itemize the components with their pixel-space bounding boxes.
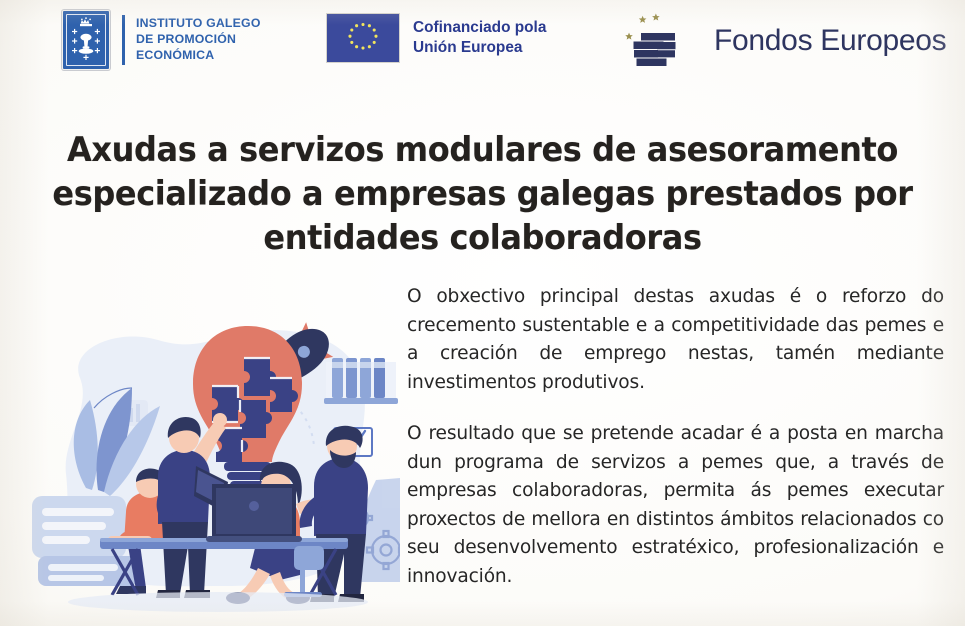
paragraph-objective: O obxectivo principal destas axudas é o … [407,283,944,397]
paragraph-result: O resultado que se pretende acadar é a p… [407,420,944,591]
shelf-with-binders [324,358,398,404]
eu-label: Cofinanciado pola Unión Europea [413,18,546,58]
xunta-de-galicia-emblem [62,10,110,70]
logo-european-union: Cofinanciado pola Unión Europea [327,14,546,62]
laptop-on-desk [206,484,302,542]
fondos-europeos-stairs-stars-mark [620,8,704,74]
fondos-europeos-label: Fondos Europeos [714,24,946,58]
eu-flag [327,14,399,62]
page-title: Axudas a servizos modulares de asesorame… [50,128,914,259]
team-brainstorming-illustration [8,300,400,622]
igape-label: INSTITUTO GALEGO DE PROMOCIÓN ECONÓMICA [136,16,261,64]
body-text-column: O obxectivo principal destas axudas é o … [407,283,944,591]
logo-igape: INSTITUTO GALEGO DE PROMOCIÓN ECONÓMICA [62,10,261,70]
logo-fondos-europeos: Fondos Europeos [620,8,946,74]
poster-page: INSTITUTO GALEGO DE PROMOCIÓN ECONÓMICA [0,0,965,626]
igape-divider-rule [122,15,125,65]
logo-bar: INSTITUTO GALEGO DE PROMOCIÓN ECONÓMICA [0,0,965,92]
